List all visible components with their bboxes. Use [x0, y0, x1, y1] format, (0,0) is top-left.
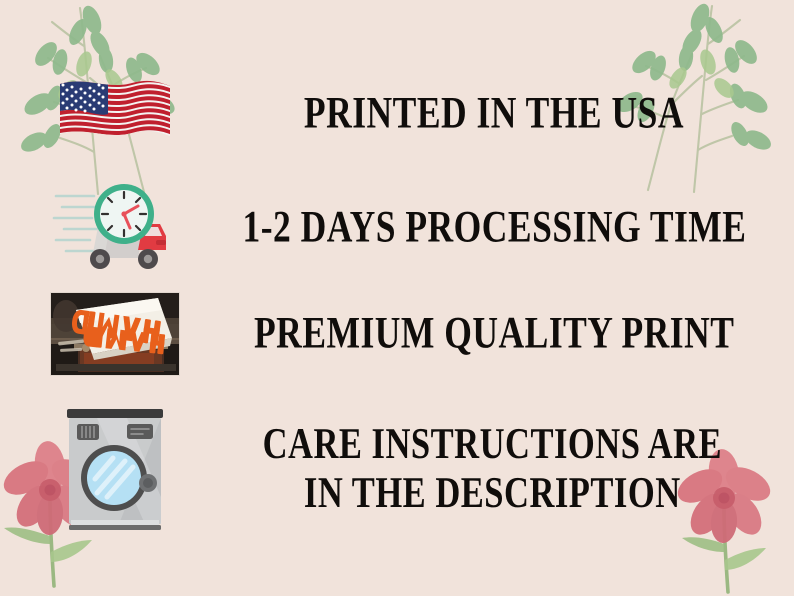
text-cell-processing-time: 1-2 DAYS PROCESSING TIME: [230, 206, 794, 250]
usa-flag-icon: [56, 74, 174, 154]
speed-lines-icon: [54, 196, 100, 251]
promo-card: PRINTED IN THE USA: [0, 0, 794, 596]
icon-cell-screen-printing: [0, 292, 230, 376]
text-cell-printed-in-the-usa: PRINTED IN THE USA: [230, 92, 794, 136]
feature-row-care-instructions: CARE INSTRUCTIONS ARE IN THE DESCRIPTION: [0, 392, 794, 544]
clock-icon: [94, 184, 154, 244]
headline-printed-in-the-usa: PRINTED IN THE USA: [304, 87, 684, 140]
text-cell-premium-quality: PREMIUM QUALITY PRINT: [230, 312, 794, 356]
feature-row-premium-quality: PREMIUM QUALITY PRINT: [0, 286, 794, 382]
icon-cell-usa-flag: [0, 74, 230, 154]
headline-care-instructions: CARE INSTRUCTIONS ARE IN THE DESCRIPTION: [262, 419, 721, 517]
fast-delivery-truck-icon: [52, 180, 178, 276]
text-cell-care-instructions: CARE INSTRUCTIONS ARE IN THE DESCRIPTION: [230, 428, 794, 509]
feature-row-processing-time: 1-2 DAYS PROCESSING TIME: [0, 176, 794, 280]
screen-printing-photo-icon: [50, 292, 180, 376]
care-line-2: IN THE DESCRIPTION: [304, 468, 681, 517]
washing-machine-icon: [57, 401, 173, 535]
icon-cell-fast-delivery: [0, 180, 230, 276]
care-line-1: CARE INSTRUCTIONS ARE: [262, 419, 721, 468]
headline-premium-quality: PREMIUM QUALITY PRINT: [254, 307, 734, 360]
icon-cell-washing-machine: [0, 401, 230, 535]
feature-row-printed-in-the-usa: PRINTED IN THE USA: [0, 62, 794, 166]
headline-processing-time: 1-2 DAYS PROCESSING TIME: [242, 201, 746, 254]
